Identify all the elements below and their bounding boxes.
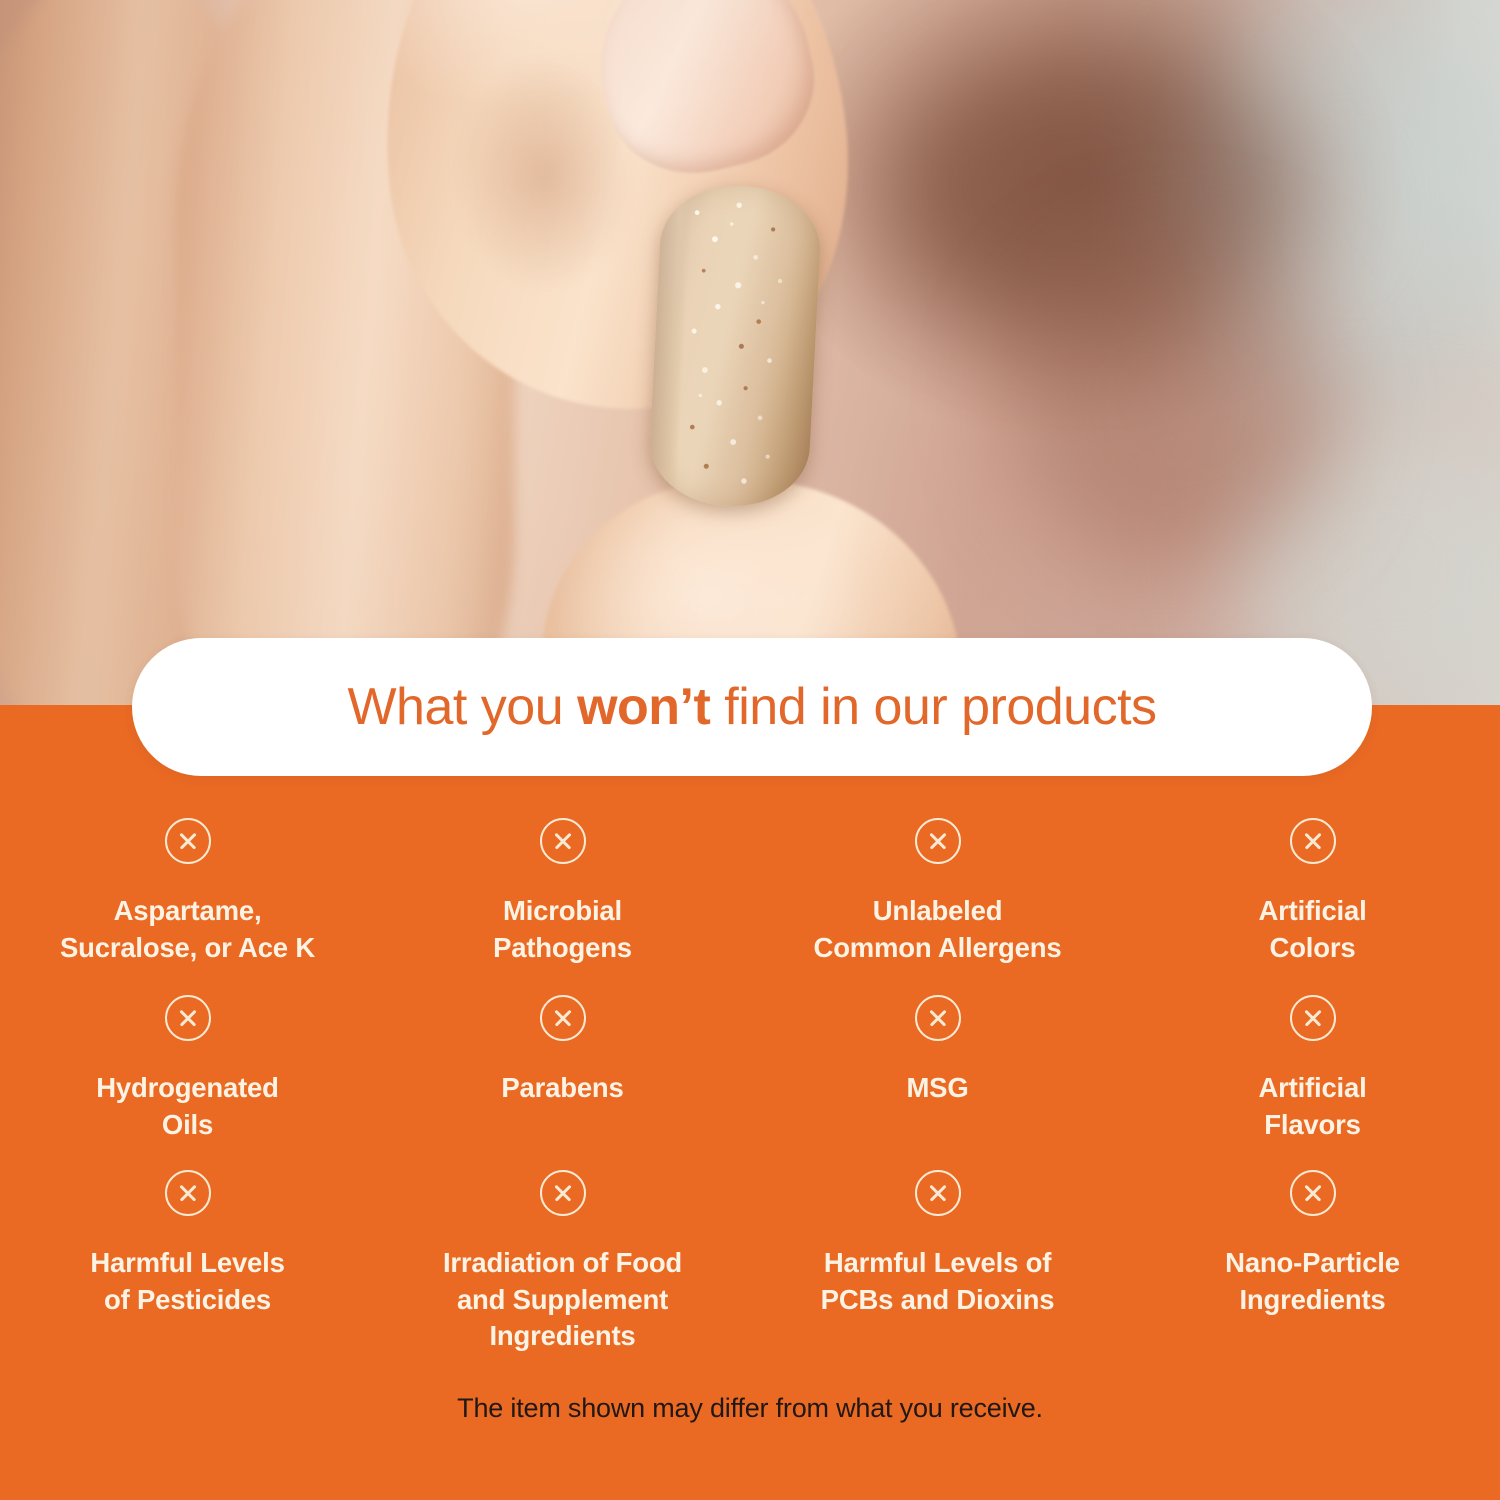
claim-item-artificial-colors: ArtificialColors bbox=[1125, 818, 1500, 995]
claim-item-aspartame: Aspartame,Sucralose, or Ace K bbox=[0, 818, 375, 995]
claim-item-label: Irradiation of Foodand SupplementIngredi… bbox=[443, 1245, 682, 1355]
page-title-part-1: What you bbox=[347, 678, 577, 736]
claim-item-label: HydrogenatedOils bbox=[96, 1070, 279, 1143]
claim-item-label: MicrobialPathogens bbox=[493, 893, 632, 966]
claim-item-label: ArtificialFlavors bbox=[1258, 1070, 1366, 1143]
claim-item-pcbs: Harmful Levels ofPCBs and Dioxins bbox=[750, 1170, 1125, 1360]
disclaimer-text: The item shown may differ from what you … bbox=[0, 1393, 1500, 1424]
claim-item-label: UnlabeledCommon Allergens bbox=[814, 893, 1062, 966]
x-circle-icon bbox=[165, 818, 211, 864]
tablet-shading bbox=[647, 182, 824, 510]
x-circle-icon bbox=[915, 995, 961, 1041]
claim-item-allergens: UnlabeledCommon Allergens bbox=[750, 818, 1125, 995]
claim-item-label: Harmful Levels ofPCBs and Dioxins bbox=[821, 1245, 1055, 1318]
claim-item-nano-particle: Nano-ParticleIngredients bbox=[1125, 1170, 1500, 1360]
product-claims-infographic: What you won’t find in our products Aspa… bbox=[0, 0, 1500, 1500]
hero-photo bbox=[0, 0, 1500, 707]
x-circle-icon bbox=[1290, 818, 1336, 864]
x-circle-icon bbox=[540, 995, 586, 1041]
claim-item-label: ArtificialColors bbox=[1258, 893, 1366, 966]
claim-item-label: Aspartame,Sucralose, or Ace K bbox=[60, 893, 315, 966]
claim-item-pesticides: Harmful Levelsof Pesticides bbox=[0, 1170, 375, 1360]
page-title: What you won’t find in our products bbox=[347, 677, 1156, 737]
claim-item-parabens: Parabens bbox=[375, 995, 750, 1170]
x-circle-icon bbox=[1290, 1170, 1336, 1216]
claim-item-hydrogenated: HydrogenatedOils bbox=[0, 995, 375, 1170]
page-title-part-2: find in our products bbox=[710, 678, 1156, 736]
x-circle-icon bbox=[165, 995, 211, 1041]
claim-item-label: Nano-ParticleIngredients bbox=[1225, 1245, 1400, 1318]
excluded-ingredients-grid: Aspartame,Sucralose, or Ace KMicrobialPa… bbox=[0, 818, 1500, 1360]
claim-item-msg: MSG bbox=[750, 995, 1125, 1170]
x-circle-icon bbox=[1290, 995, 1336, 1041]
x-circle-icon bbox=[540, 1170, 586, 1216]
page-title-emphasis: won’t bbox=[577, 678, 710, 736]
x-circle-icon bbox=[165, 1170, 211, 1216]
claim-item-label: Harmful Levelsof Pesticides bbox=[90, 1245, 284, 1318]
supplement-tablet bbox=[647, 182, 824, 510]
claim-item-microbial: MicrobialPathogens bbox=[375, 818, 750, 995]
claim-item-irradiation: Irradiation of Foodand SupplementIngredi… bbox=[375, 1170, 750, 1360]
claim-item-label: MSG bbox=[906, 1070, 968, 1107]
x-circle-icon bbox=[540, 818, 586, 864]
title-pill: What you won’t find in our products bbox=[132, 638, 1372, 776]
x-circle-icon bbox=[915, 1170, 961, 1216]
claim-item-artificial-flavors: ArtificialFlavors bbox=[1125, 995, 1500, 1170]
x-circle-icon bbox=[915, 818, 961, 864]
background-bokeh-mid bbox=[1010, 240, 1340, 570]
claim-item-label: Parabens bbox=[501, 1070, 623, 1107]
